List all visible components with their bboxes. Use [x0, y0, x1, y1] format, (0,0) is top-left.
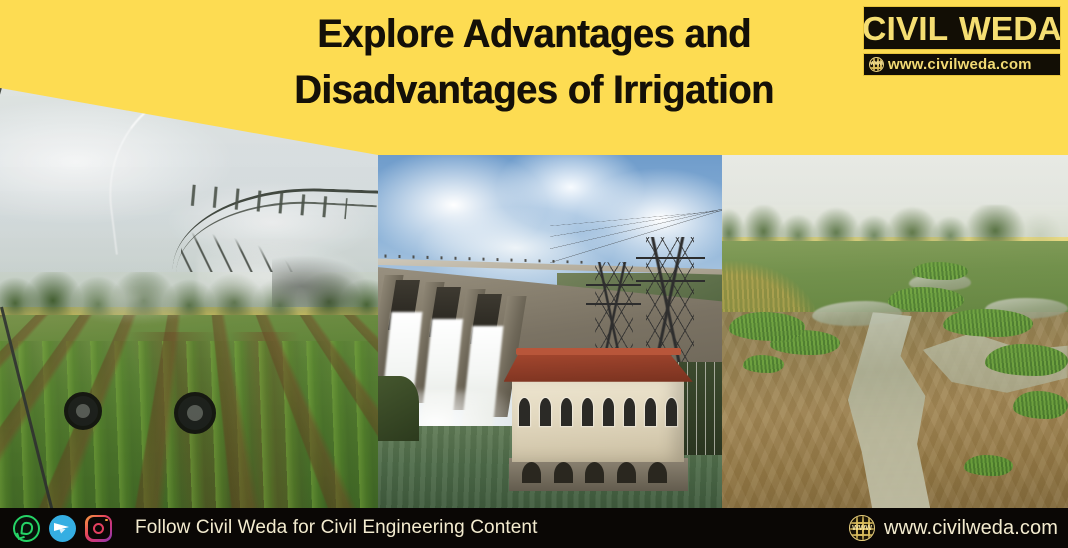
telegram-icon[interactable]	[49, 515, 76, 542]
instagram-icon[interactable]	[85, 515, 112, 542]
footer-url-text[interactable]: www.civilweda.com	[884, 517, 1058, 540]
logo-word-civil: CIVIL	[863, 12, 955, 45]
roof-ridge	[516, 348, 681, 355]
social-links: Follow Civil Weda for Civil Engineering …	[0, 515, 537, 542]
vegetated-bank	[378, 376, 419, 440]
footer-website[interactable]: WWW www.civilweda.com	[849, 508, 1058, 548]
photo-shading	[0, 84, 378, 512]
logo-url-bar: WWW www.civilweda.com	[863, 53, 1061, 76]
powerhouse-arched-windows	[519, 398, 677, 427]
page-title-line-2: Disadvantages of Irrigation	[230, 62, 838, 118]
civilweda-logo[interactable]: CIVIL WEDA WWW www.civilweda.com	[863, 6, 1061, 78]
logo-url-text: www.civilweda.com	[888, 57, 1032, 72]
footer-tagline: Follow Civil Weda for Civil Engineering …	[135, 517, 537, 539]
powerhouse-arches	[516, 462, 674, 483]
page-title: Explore Advantages and Disadvantages of …	[230, 6, 838, 118]
page-title-line-1: Explore Advantages and	[230, 6, 838, 62]
globe-www-label: WWW	[870, 62, 883, 67]
infographic-banner: Explore Advantages and Disadvantages of …	[0, 0, 1068, 548]
globe-icon: WWW	[869, 57, 884, 72]
photo-waterlogged-field	[722, 155, 1068, 512]
photo-shading	[722, 155, 1068, 512]
footer-bar: Follow Civil Weda for Civil Engineering …	[0, 508, 1068, 548]
logo-wordmark: CIVIL WEDA	[863, 6, 1061, 50]
logo-word-weda: WEDA	[953, 12, 1061, 45]
photo-hydroelectric-dam	[378, 155, 722, 512]
photo-center-pivot-irrigation	[0, 84, 378, 512]
globe-www-label: WWW	[850, 525, 874, 532]
whatsapp-icon[interactable]	[13, 515, 40, 542]
globe-icon: WWW	[849, 515, 875, 541]
